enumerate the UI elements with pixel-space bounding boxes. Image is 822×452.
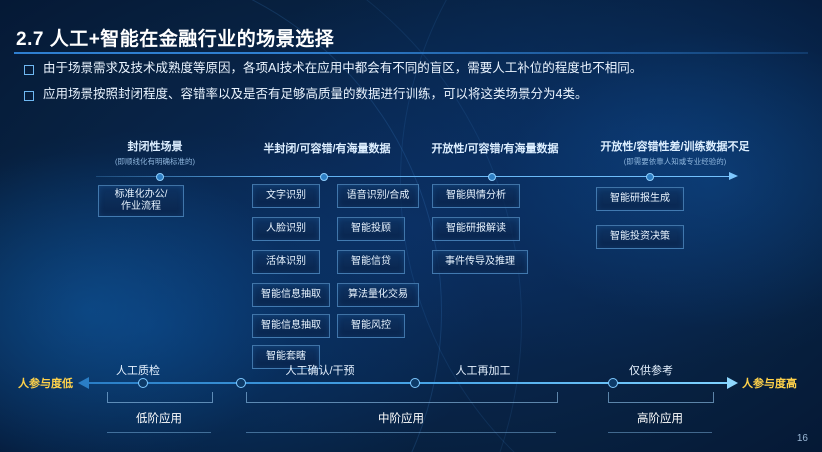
title-divider (14, 52, 808, 54)
list-item: 由于场景需求及技术成熟度等原因，各项AI技术在应用中都会有不同的盲区，需要人工补… (24, 60, 802, 77)
tier-label-low: 低阶应用 (107, 410, 211, 426)
stage-label-manual-confirm: 人工确认/干预 (270, 362, 370, 378)
scenario-card[interactable]: 算法量化交易 (337, 283, 419, 307)
scenario-card[interactable]: 语音识别/合成 (337, 184, 419, 208)
scenario-card[interactable]: 事件传导及推理 (432, 250, 528, 274)
axis-arrow-left-icon (78, 377, 89, 389)
axis-stage-dot (138, 378, 148, 388)
scenario-card[interactable]: 智能信息抽取 (252, 314, 330, 338)
axis-stage-dot (608, 378, 618, 388)
scenario-card[interactable]: 智能舆情分析 (432, 184, 520, 208)
axis-arrow-icon (729, 172, 738, 180)
tier-divider (608, 432, 712, 433)
stage-label-manual-rework: 人工再加工 (443, 362, 523, 378)
top-axis (96, 176, 730, 177)
scenario-card[interactable]: 智能信贷 (337, 250, 405, 274)
participation-axis (88, 382, 728, 384)
scenario-card[interactable]: 活体识别 (252, 250, 320, 274)
column-header-subtitle: (即需要依靠人知或专业经验的) (560, 156, 790, 167)
axis-tick-dot (646, 173, 654, 181)
tier-divider (246, 432, 556, 433)
bullet-text: 应用场景按照封闭程度、容错率以及是否有足够高质量的数据进行训练，可以将这类场景分… (43, 86, 587, 103)
scenario-card[interactable]: 智能风控 (337, 314, 405, 338)
axis-tick-dot (488, 173, 496, 181)
axis-arrow-right-icon (727, 377, 738, 389)
axis-tick-dot (156, 173, 164, 181)
scenario-card[interactable]: 智能研报生成 (596, 187, 684, 211)
column-header-title: 开放性/容错性差/训练数据不足 (560, 138, 790, 154)
scenario-card[interactable]: 智能投顾 (337, 217, 405, 241)
page-title: 2.7 人工+智能在金融行业的场景选择 (16, 24, 334, 51)
title-block: 2.7 人工+智能在金融行业的场景选择 (16, 24, 806, 51)
axis-stage-dot (410, 378, 420, 388)
axis-tick-dot (320, 173, 328, 181)
tier-bracket-high (608, 392, 714, 403)
tier-label-high: 高阶应用 (608, 410, 712, 426)
tier-divider (107, 432, 211, 433)
axis-label-low: 人参与度低 (18, 375, 73, 391)
scenario-card[interactable]: 人脸识别 (252, 217, 320, 241)
scenario-card[interactable]: 智能研报解读 (432, 217, 520, 241)
list-item: 应用场景按照封闭程度、容错率以及是否有足够高质量的数据进行训练，可以将这类场景分… (24, 86, 802, 103)
scenario-card[interactable]: 标准化办公/ 作业流程 (98, 185, 184, 217)
stage-label-reference-only: 仅供参考 (616, 362, 686, 378)
square-bullet-icon (24, 65, 34, 75)
tier-bracket-mid (246, 392, 558, 403)
bullet-list: 由于场景需求及技术成熟度等原因，各项AI技术在应用中都会有不同的盲区，需要人工补… (24, 60, 802, 112)
column-header-semiclosed: 半封闭/可容错/有海量数据 (232, 140, 422, 158)
tier-bracket-low (107, 392, 213, 403)
slide-root: 2.7 人工+智能在金融行业的场景选择 由于场景需求及技术成熟度等原因，各项AI… (0, 0, 822, 452)
column-header-title: 半封闭/可容错/有海量数据 (232, 140, 422, 156)
scenario-card[interactable]: 文字识别 (252, 184, 320, 208)
column-header-open-lowdata: 开放性/容错性差/训练数据不足 (即需要依靠人知或专业经验的) (560, 138, 790, 167)
tier-label-mid: 中阶应用 (246, 410, 556, 426)
scenario-card[interactable]: 智能信息抽取 (252, 283, 330, 307)
column-header-closed: 封闭性场景 (即顺线化有明确标准的) (100, 138, 210, 167)
stage-label-manual-check: 人工质检 (103, 362, 173, 378)
scenario-card[interactable]: 智能投资决策 (596, 225, 684, 249)
bullet-text: 由于场景需求及技术成熟度等原因，各项AI技术在应用中都会有不同的盲区，需要人工补… (43, 60, 642, 77)
column-header-subtitle: (即顺线化有明确标准的) (100, 156, 210, 167)
axis-label-high: 人参与度高 (742, 375, 797, 391)
square-bullet-icon (24, 91, 34, 101)
axis-stage-dot (236, 378, 246, 388)
page-number: 16 (797, 433, 808, 444)
column-header-title: 封闭性场景 (100, 138, 210, 154)
